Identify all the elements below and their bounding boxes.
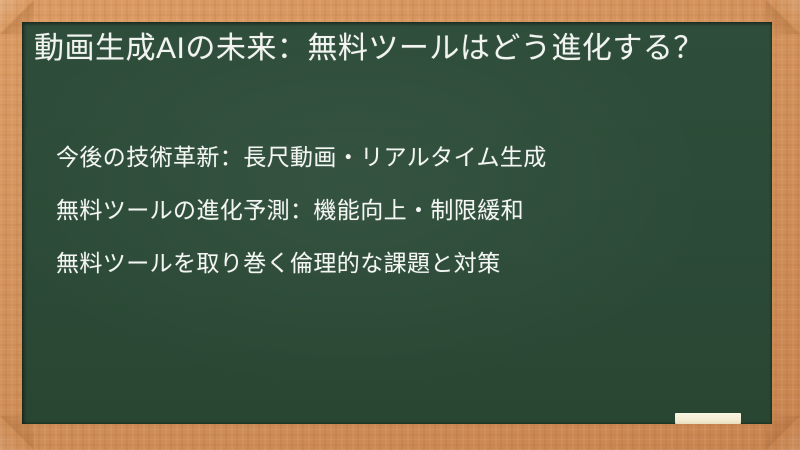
list-item: 無料ツールを取り巻く倫理的な課題と対策 [56,250,756,276]
slide-title: 動画生成AIの未来：無料ツールはどう進化する？ [34,28,746,70]
slide-bullet-list: 今後の技術革新：長尺動画・リアルタイム生成 無料ツールの進化予測：機能向上・制限… [56,144,756,303]
list-item: 今後の技術革新：長尺動画・リアルタイム生成 [56,144,756,170]
list-item: 無料ツールの進化予測：機能向上・制限緩和 [56,197,756,223]
chalkboard-wooden-frame: 動画生成AIの未来：無料ツールはどう進化する？ 今後の技術革新：長尺動画・リアル… [0,0,800,450]
chalkboard-surface: 動画生成AIの未来：無料ツールはどう進化する？ 今後の技術革新：長尺動画・リアル… [22,22,772,424]
chalk-stick-icon [675,413,741,424]
